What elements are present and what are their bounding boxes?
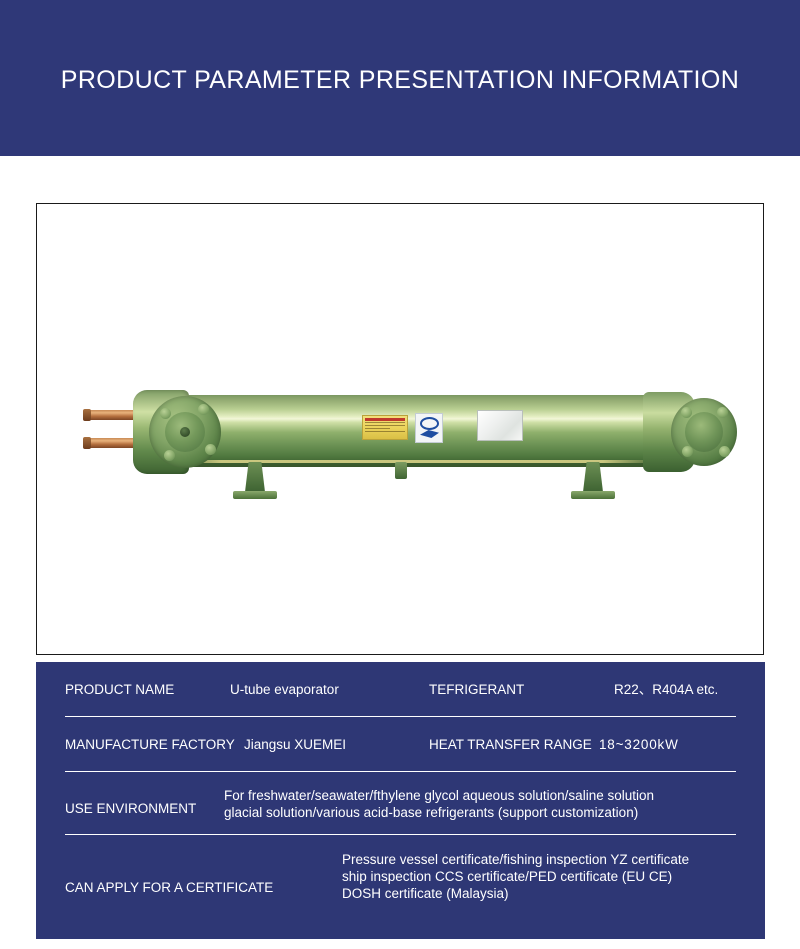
warning-label-sticker <box>362 415 408 440</box>
flange-bolt <box>205 444 216 455</box>
page-header: PRODUCT PARAMETER PRESENTATION INFORMATI… <box>0 0 800 156</box>
support-saddle-right <box>571 462 615 500</box>
spec-label-certificate: CAN APPLY FOR A CERTIFICATE <box>65 879 273 896</box>
spec-label-heat-transfer-range: HEAT TRANSFER RANGE <box>429 736 592 753</box>
saddle-web <box>583 462 603 492</box>
spec-value-certificate: Pressure vessel certificate/fishing insp… <box>342 851 689 902</box>
warning-label-text-line <box>365 422 405 423</box>
support-saddle-left <box>233 462 277 500</box>
flange-bolt <box>198 404 209 415</box>
table-row: PRODUCT NAME U-tube evaporator TEFRIGERA… <box>36 662 765 717</box>
spec-label-refrigerant: TEFRIGERANT <box>429 681 524 698</box>
flange-bolt <box>160 408 171 419</box>
flange-bolt <box>717 407 728 418</box>
spec-value-product-name: U-tube evaporator <box>230 681 339 698</box>
saddle-web <box>245 462 265 492</box>
warning-label-text-line <box>365 425 405 426</box>
heat-exchanger-illustration <box>65 374 745 504</box>
warning-label-text-line <box>365 431 405 432</box>
spec-label-product-name: PRODUCT NAME <box>65 681 174 698</box>
table-row: MANUFACTURE FACTORY Jiangsu XUEMEI HEAT … <box>36 717 765 772</box>
certification-sticker <box>415 413 443 443</box>
drain-boss <box>395 462 407 479</box>
table-row: USE ENVIRONMENT For freshwater/seawater/… <box>36 772 765 835</box>
product-nameplate <box>477 410 523 441</box>
right-flange-cover <box>685 412 723 452</box>
table-row: CAN APPLY FOR A CERTIFICATE Pressure ves… <box>36 835 765 939</box>
spec-value-manufacture-factory: Jiangsu XUEMEI <box>244 736 346 753</box>
saddle-base-plate <box>571 491 615 499</box>
spec-label-use-environment: USE ENVIRONMENT <box>65 800 196 817</box>
copper-pipe-lower-cap <box>83 437 91 449</box>
left-flange-center-port <box>180 427 190 437</box>
flange-bolt <box>164 450 175 461</box>
certification-mark-icon <box>420 417 439 430</box>
saddle-base-plate <box>233 491 277 499</box>
spec-value-refrigerant: R22、R404A etc. <box>614 681 718 698</box>
certification-swoosh-icon <box>420 430 439 438</box>
spec-value-heat-transfer-range: 18~3200kW <box>599 736 679 753</box>
spec-value-use-environment: For freshwater/seawater/fthylene glycol … <box>224 787 654 821</box>
warning-label-header-bar <box>365 418 405 421</box>
warning-label-text-line <box>365 428 390 429</box>
spec-label-manufacture-factory: MANUFACTURE FACTORY <box>65 736 235 753</box>
copper-pipe-upper-cap <box>83 409 91 421</box>
product-photo <box>37 204 763 654</box>
pressure-vessel-shell <box>161 395 663 467</box>
specification-table: PRODUCT NAME U-tube evaporator TEFRIGERA… <box>36 662 765 939</box>
page-title: PRODUCT PARAMETER PRESENTATION INFORMATI… <box>0 66 800 95</box>
flange-bolt <box>719 446 730 457</box>
product-image-frame <box>36 203 764 655</box>
